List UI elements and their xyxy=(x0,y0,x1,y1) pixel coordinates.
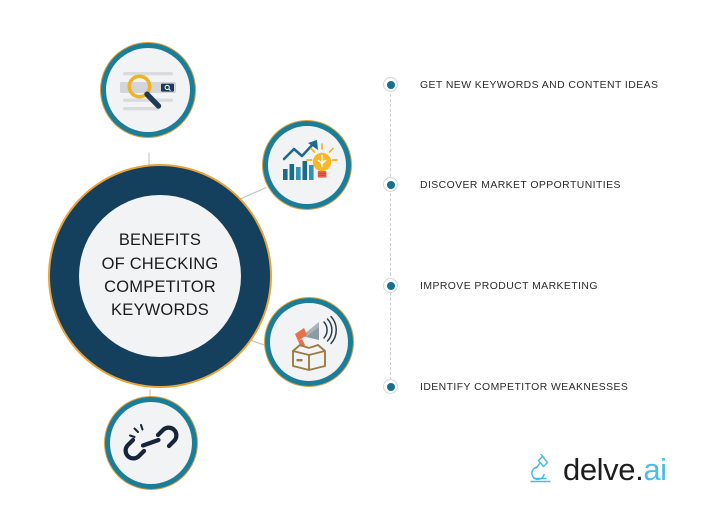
satellite-search-keywords[interactable] xyxy=(100,42,196,138)
search-bar-magnifier-icon xyxy=(109,51,187,129)
bullet-dot-icon xyxy=(383,278,398,293)
logo-suffix: ai xyxy=(643,452,666,487)
satellite-core xyxy=(106,48,190,132)
list-item-label: GET NEW KEYWORDS AND CONTENT IDEAS xyxy=(420,80,658,91)
infographic-canvas: BENEFITS OF CHECKING COMPETITOR KEYWORDS xyxy=(0,0,720,512)
bullet-dot-icon xyxy=(383,177,398,192)
satellite-backlinks[interactable] xyxy=(104,396,198,490)
central-hub: BENEFITS OF CHECKING COMPETITOR KEYWORDS xyxy=(48,164,272,388)
bullet-dot-icon xyxy=(383,379,398,394)
growth-chart-lightbulb-icon xyxy=(274,132,340,198)
timeline-dashed-line xyxy=(390,84,391,390)
satellite-product-marketing[interactable] xyxy=(264,297,354,387)
benefits-list: GET NEW KEYWORDS AND CONTENT IDEAS DISCO… xyxy=(380,0,720,512)
megaphone-box-icon xyxy=(276,309,342,375)
list-item-label: IDENTIFY COMPETITOR WEAKNESSES xyxy=(420,382,628,393)
list-item-label: IMPROVE PRODUCT MARKETING xyxy=(420,281,598,292)
satellite-core xyxy=(110,402,192,484)
hub-ring: BENEFITS OF CHECKING COMPETITOR KEYWORDS xyxy=(50,166,270,386)
page-title: BENEFITS OF CHECKING COMPETITOR KEYWORDS xyxy=(96,229,225,323)
list-item-label: DISCOVER MARKET OPPORTUNITIES xyxy=(420,180,621,191)
logo-wordmark: delve.ai xyxy=(563,454,667,485)
satellite-ring xyxy=(263,121,351,209)
satellite-core xyxy=(268,126,346,204)
hub-core: BENEFITS OF CHECKING COMPETITOR KEYWORDS xyxy=(79,195,241,357)
brand-logo[interactable]: delve.ai xyxy=(528,452,667,486)
bullet-dot-icon xyxy=(383,77,398,92)
chain-link-icon xyxy=(120,412,182,474)
satellite-core xyxy=(270,303,348,381)
microscope-icon xyxy=(528,452,554,486)
satellite-market-opportunities[interactable] xyxy=(262,120,352,210)
satellite-ring xyxy=(105,397,197,489)
satellite-ring xyxy=(265,298,353,386)
satellite-ring xyxy=(101,43,195,137)
logo-name: delve. xyxy=(563,452,643,487)
